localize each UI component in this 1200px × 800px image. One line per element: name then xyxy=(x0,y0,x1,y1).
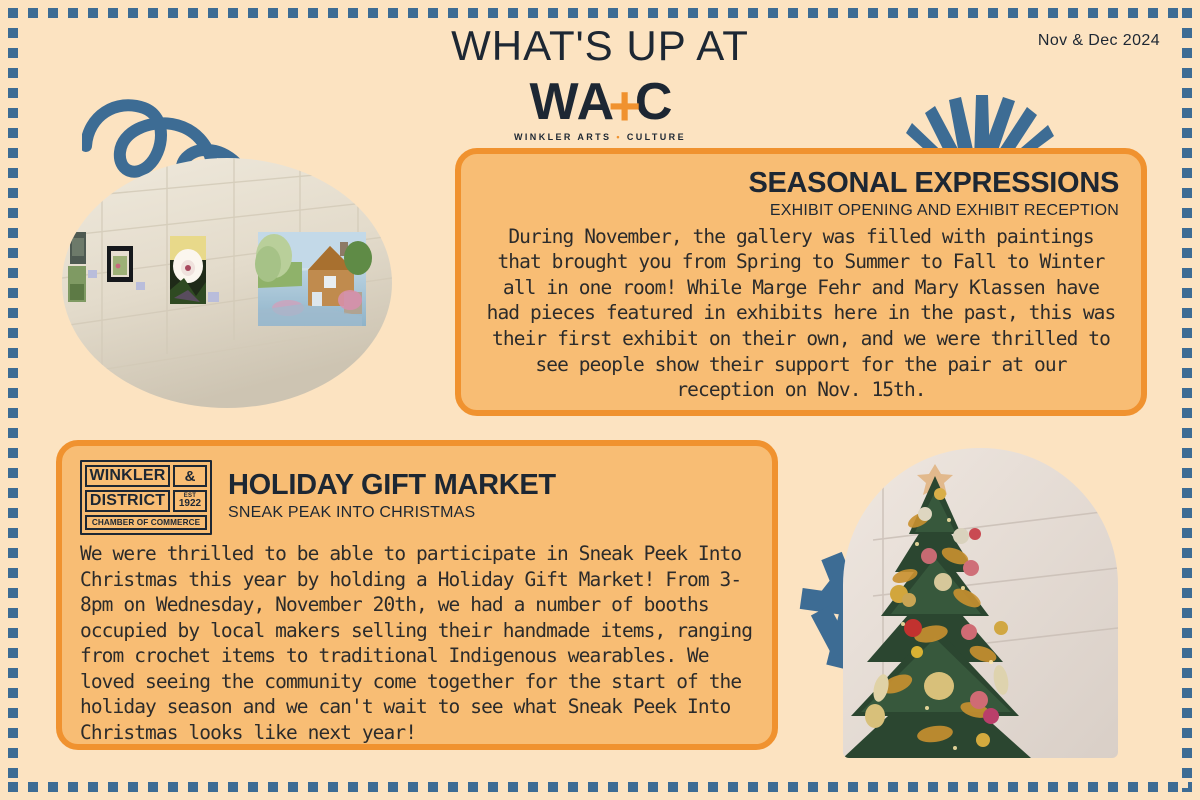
logo-letter-a: A xyxy=(577,78,613,127)
logo-tagline-left: WINKLER ARTS xyxy=(514,132,611,142)
winkler-district-chamber-logo: WINKLER & DISTRICT EST 1922 CHAMBER OF C… xyxy=(80,460,212,535)
logo-tagline: WINKLER ARTS • CULTURE xyxy=(514,132,686,142)
border-top xyxy=(8,8,1192,18)
article-title: SEASONAL EXPRESSIONS xyxy=(483,168,1119,200)
chamber-logo-line2: DISTRICT xyxy=(85,490,170,512)
chamber-logo-ampersand: & xyxy=(173,465,207,487)
article-body: We were thrilled to be able to participa… xyxy=(80,541,754,745)
gallery-exhibit-photo xyxy=(62,158,392,408)
article-card-seasonal-expressions: SEASONAL EXPRESSIONS EXHIBIT OPENING AND… xyxy=(455,148,1147,416)
chamber-logo-line1: WINKLER xyxy=(85,465,170,487)
chamber-logo-footer: CHAMBER OF COMMERCE xyxy=(85,515,207,530)
chamber-logo-established: EST 1922 xyxy=(173,490,207,512)
page-title: WHAT'S UP AT xyxy=(0,22,1200,70)
article-body: During November, the gallery was filled … xyxy=(483,224,1119,403)
article-subtitle: EXHIBIT OPENING AND EXHIBIT RECEPTION xyxy=(483,202,1119,220)
article-subtitle: SNEAK PEAK INTO CHRISTMAS xyxy=(228,504,556,522)
article-header-row: WINKLER & DISTRICT EST 1922 CHAMBER OF C… xyxy=(80,460,754,535)
christmas-tree-photo xyxy=(843,448,1118,758)
logo-plus-icon: + xyxy=(608,79,639,132)
logo-letter-c: C xyxy=(635,78,671,127)
article-card-holiday-gift-market: WINKLER & DISTRICT EST 1922 CHAMBER OF C… xyxy=(56,440,778,750)
chamber-est-year: 1922 xyxy=(179,499,201,509)
wac-logo: W A + C WINKLER ARTS • CULTURE xyxy=(514,76,686,142)
article-title: HOLIDAY GIFT MARKET xyxy=(228,470,556,502)
issue-date: Nov & Dec 2024 xyxy=(1038,32,1160,50)
article-heading-group: HOLIDAY GIFT MARKET SNEAK PEAK INTO CHRI… xyxy=(228,460,556,522)
border-bottom xyxy=(8,782,1192,792)
newsletter-header: WHAT'S UP AT W A + C WINKLER ARTS • CULT… xyxy=(0,22,1200,145)
logo-letter-w: W xyxy=(530,78,577,127)
